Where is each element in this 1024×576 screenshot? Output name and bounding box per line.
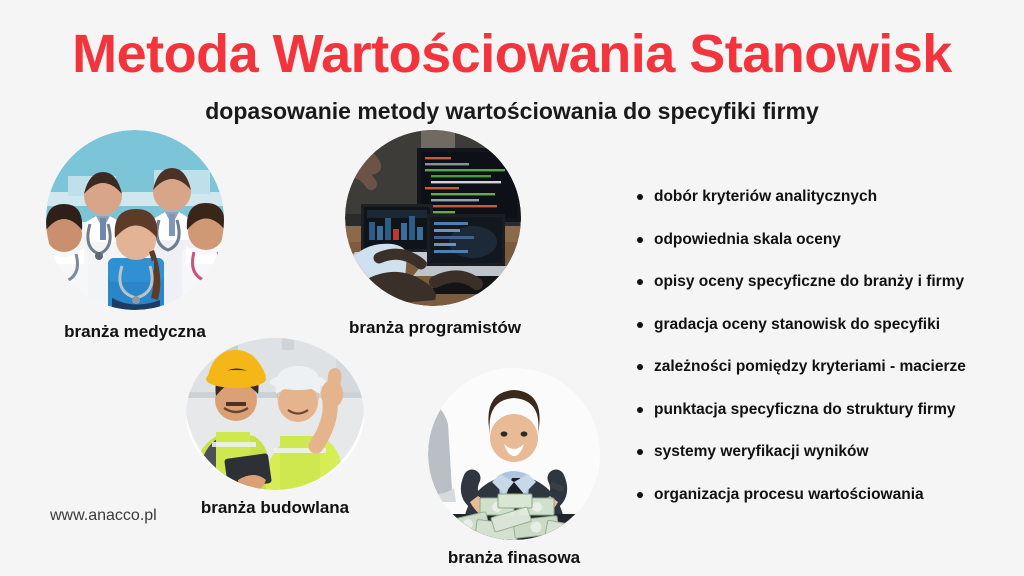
list-item-label: organizacja procesu wartościowania <box>654 485 924 505</box>
list-item: punktacja specyficzna do struktury firmy <box>634 389 1024 432</box>
bullet-dot-icon <box>637 492 643 498</box>
list-item-label: punktacja specyficzna do struktury firmy <box>654 400 955 420</box>
medical-team-caption: branża medyczna <box>46 321 224 343</box>
construction-photo <box>186 338 364 490</box>
list-item-label: opisy oceny specyficzne do branży i firm… <box>654 272 964 292</box>
list-item: opisy oceny specyficzne do branży i firm… <box>634 261 1024 304</box>
list-item: gradacja oceny stanowisk do specyfiki <box>634 304 1024 347</box>
list-item-label: zależności pomiędzy kryteriami - macierz… <box>654 357 966 377</box>
list-item: organizacja procesu wartościowania <box>634 474 1024 517</box>
list-item-label: dobór kryteriów analitycznych <box>654 187 877 207</box>
bullet-dot-icon <box>637 449 643 455</box>
programmers-photo <box>345 130 521 306</box>
bullet-dot-icon <box>637 237 643 243</box>
list-item-label: odpowiednia skala oceny <box>654 230 841 250</box>
list-item: dobór kryteriów analitycznych <box>634 176 1024 219</box>
construction-caption: branża budowlana <box>185 497 365 519</box>
bullet-dot-icon <box>637 194 643 200</box>
bullet-dot-icon <box>637 322 643 328</box>
medical-team-photo <box>46 130 224 310</box>
slide-canvas: Metoda Wartościowania Stanowisk dopasowa… <box>0 0 1024 576</box>
page-subtitle: dopasowanie metody wartościowania do spe… <box>0 96 1024 126</box>
bullet-dot-icon <box>637 279 643 285</box>
finance-caption: branża finasowa <box>424 547 604 569</box>
list-item: zależności pomiędzy kryteriami - macierz… <box>634 346 1024 389</box>
finance-photo <box>428 368 600 540</box>
feature-bullet-list: dobór kryteriów analitycznych odpowiedni… <box>634 176 1024 516</box>
list-item-label: gradacja oceny stanowisk do specyfiki <box>654 315 940 335</box>
site-url-label: www.anacco.pl <box>50 506 157 526</box>
list-item: odpowiednia skala oceny <box>634 219 1024 262</box>
programmers-caption: branża programistów <box>335 317 535 339</box>
list-item: systemy weryfikacji wyników <box>634 431 1024 474</box>
bullet-dot-icon <box>637 364 643 370</box>
list-item-label: systemy weryfikacji wyników <box>654 442 869 462</box>
bullet-dot-icon <box>637 407 643 413</box>
page-title: Metoda Wartościowania Stanowisk <box>0 24 1024 84</box>
